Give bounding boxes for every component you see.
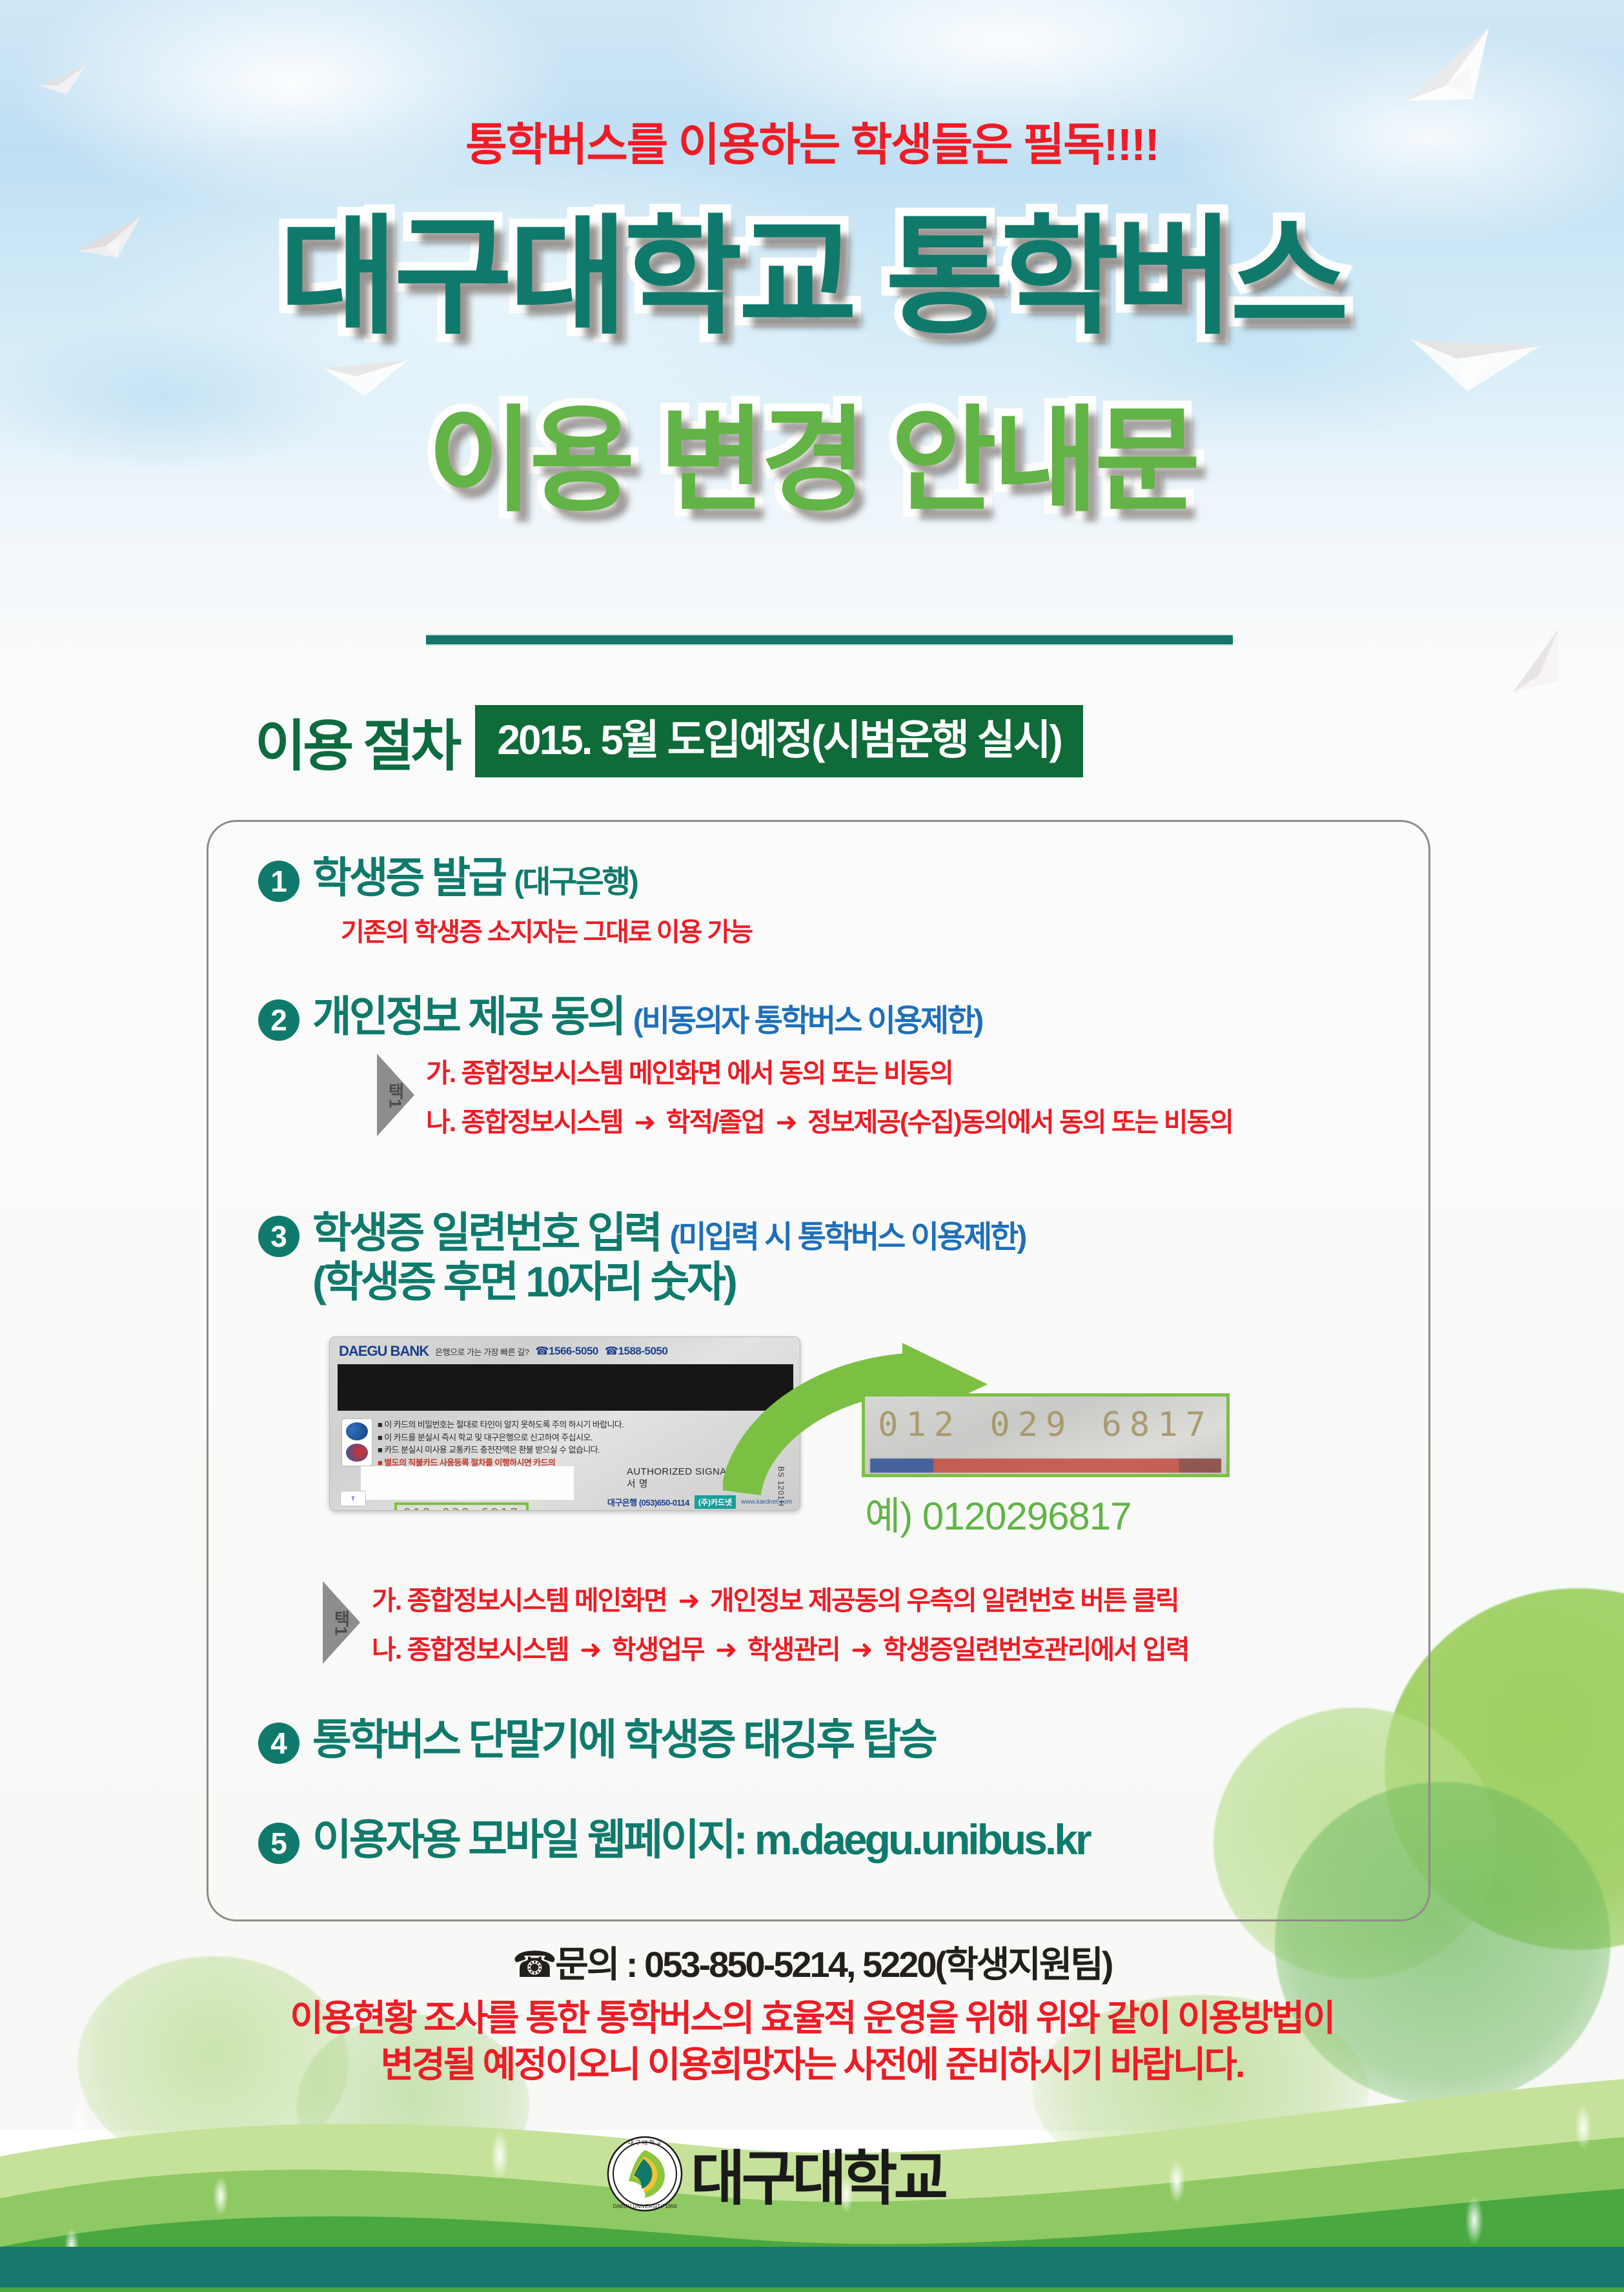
bank-tagline: 은행으로 가는 가장 빠른 길? (435, 1346, 529, 1358)
step-5: 5 이용자용 모바일 웹페이지: m.daegu.unibus.kr (258, 1817, 1090, 1864)
step-number-badge: 3 (258, 1216, 299, 1257)
section-title: 이용 절차 (255, 701, 458, 781)
choose-one-label: 택1 (384, 1083, 408, 1107)
step-3-option-b-part2: 학생업무 (612, 1635, 704, 1664)
arrow-right-icon: ➜ (574, 1635, 605, 1664)
cirrus-maestro-logo-icon (341, 1418, 372, 1466)
bank-tel-1: ☎1566-5050 (535, 1345, 598, 1358)
sparkle (491, 2131, 509, 2180)
card-footer-bank: 대구은행 (053)650-0114 (607, 1496, 689, 1508)
arrow-right-icon: ➜ (629, 1107, 660, 1137)
step-3-option-b-part4: 학생증일련번호관리에서 입력 (883, 1635, 1189, 1664)
step-2-option-b: 나. 종합정보시스템 ➜ 학적/졸업 ➜ 정보제공(수집)동의에서 동의 또는 … (426, 1100, 1233, 1139)
maestro-icon (346, 1444, 368, 1462)
svg-text:DAEGU UNIVERSITY 1956: DAEGU UNIVERSITY 1956 (613, 2204, 677, 2209)
serial-example-text: 예) 0120296817 (865, 1485, 1132, 1541)
step-2-option-b-part2: 학적/졸업 (666, 1107, 764, 1137)
step-3-option-b-part3: 학생관리 (747, 1635, 840, 1664)
step-number-badge: 2 (258, 999, 299, 1041)
step-3-option-a: 가. 종합정보시스템 메인화면 ➜ 개인정보 제공동의 우측의 일련번호 버튼 … (372, 1579, 1189, 1617)
sparkle (1465, 2195, 1483, 2246)
step-2-choose-group: 택1 가. 종합정보시스템 메인화면 에서 동의 또는 비동의 나. 종합정보시… (377, 1051, 1233, 1139)
step-3-subtitle: (학생증 후면 10자리 숫자) (312, 1260, 1025, 1305)
poster-title-line-2: 이용 변경 안내문 (0, 404, 1624, 518)
step-1: 1 학생증 발급 (대구은행) 기존의 학생증 소지자는 그대로 이용 가능 (258, 855, 752, 948)
closing-notice-line-2: 변경될 예정이오니 이용희망자는 사전에 준비하시기 바랍니다. (0, 2041, 1624, 2088)
arrow-right-icon: ➜ (673, 1586, 704, 1615)
bottom-bar (0, 2247, 1624, 2287)
step-3-option-b-part1: 나. 종합정보시스템 (372, 1635, 569, 1664)
university-seal-icon: 대 구 대 학 교 DAEGU UNIVERSITY 1956 (607, 2136, 683, 2212)
serial-zoom-number: 012 029 6817 (865, 1406, 1226, 1444)
step-number-badge: 4 (258, 1723, 299, 1764)
step-1-note: 기존의 학생증 소지자는 그대로 이용 가능 (341, 911, 752, 948)
step-2-main-text: 개인정보 제공 동의 (312, 992, 624, 1040)
poster-title-line-1: 대구대학교 통학버스 (0, 213, 1624, 342)
step-3-option-a-part2: 개인정보 제공동의 우측의 일련번호 버튼 클릭 (710, 1586, 1179, 1615)
arrow-right-icon: ➜ (710, 1635, 741, 1664)
step-3-paren: (미입력 시 통학버스 이용제한) (670, 1220, 1026, 1254)
choose-one-label: 택1 (330, 1610, 354, 1635)
step-3-title: 학생증 일련번호 입력 (미입력 시 통학버스 이용제한) (312, 1211, 1025, 1256)
choose-one-marker: 택1 (323, 1581, 360, 1664)
step-3-option-b: 나. 종합정보시스템 ➜ 학생업무 ➜ 학생관리 ➜ 학생증일련번호관리에서 입… (372, 1628, 1189, 1666)
title-divider (426, 634, 1233, 646)
closing-notice: 이용현황 조사를 통한 통학버스의 효율적 운영을 위해 위와 같이 이용방법이… (0, 1995, 1624, 2087)
serial-zoom-bottom-blur (870, 1458, 1221, 1473)
choose-one-marker: 택1 (377, 1054, 414, 1136)
step-1-paren: (대구은행) (514, 865, 637, 899)
step-3-choose-group: 택1 가. 종합정보시스템 메인화면 ➜ 개인정보 제공동의 우측의 일련번호 … (323, 1579, 1189, 1666)
step-4-title: 통학버스 단말기에 학생증 태깅후 탑승 (312, 1717, 935, 1763)
arrow-right-icon: ➜ (770, 1107, 801, 1137)
sparkle (1168, 2160, 1185, 2204)
closing-notice-line-1: 이용현황 조사를 통한 통학버스의 효율적 운영을 위해 위와 같이 이용방법이 (0, 1995, 1624, 2041)
step-1-title: 학생증 발급 (대구은행) (312, 855, 752, 901)
sparkle (1575, 2105, 1592, 2150)
section-badge: 2015. 5월 도입예정(시범운행 실시) (475, 705, 1082, 777)
step-number-badge: 1 (258, 861, 299, 902)
cirrus-icon (346, 1422, 368, 1440)
bank-tel-2: ☎1588-5050 (605, 1345, 667, 1358)
bank-name: DAEGU BANK (339, 1343, 429, 1360)
step-3-option-a-part1: 가. 종합정보시스템 메인화면 (372, 1586, 667, 1615)
step-2-paren: (비동의자 통학버스 이용제한) (633, 1004, 982, 1038)
step-3: 3 학생증 일련번호 입력 (미입력 시 통학버스 이용제한) (학생증 후면 … (258, 1211, 1025, 1305)
step-2-option-b-part3: 정보제공(수집)동의에서 동의 또는 비동의 (807, 1107, 1233, 1137)
arrow-right-icon: ➜ (846, 1635, 877, 1664)
step-2-option-b-part1: 나. 종합정보시스템 (426, 1107, 623, 1137)
svg-text:대 구 대 학 교: 대 구 대 학 교 (628, 2140, 661, 2146)
step-3-main-text: 학생증 일련번호 입력 (312, 1209, 660, 1256)
step-number-badge: 5 (258, 1823, 299, 1864)
sparkle (213, 2176, 228, 2216)
step-4: 4 통학버스 단말기에 학생증 태깅후 탑승 (258, 1717, 935, 1764)
university-logo: 대 구 대 학 교 DAEGU UNIVERSITY 1956 대구대학교 (607, 2131, 944, 2216)
sparkle (71, 2098, 88, 2144)
university-name: 대구대학교 (691, 2131, 944, 2216)
step-2: 2 개인정보 제공 동의 (비동의자 통학버스 이용제한) 택1 가. 종합정보… (258, 994, 1233, 1139)
step-2-title: 개인정보 제공 동의 (비동의자 통학버스 이용제한) (312, 994, 1233, 1039)
contact-line: ☎문의 : 053-850-5214, 5220(학생지원팀) (0, 1936, 1624, 1988)
serial-zoom-box: 012 029 6817 (862, 1393, 1230, 1477)
kicker-text: 통학버스를 이용하는 학생들은 필독!!!! (0, 108, 1624, 174)
section-header: 이용 절차 2015. 5월 도입예정(시범운행 실시) (255, 701, 1083, 781)
step-1-main-text: 학생증 발급 (312, 854, 505, 901)
step-5-title: 이용자용 모바일 웹페이지: m.daegu.unibus.kr (312, 1817, 1090, 1863)
step-2-option-a: 가. 종합정보시스템 메인화면 에서 동의 또는 비동의 (426, 1051, 1233, 1090)
